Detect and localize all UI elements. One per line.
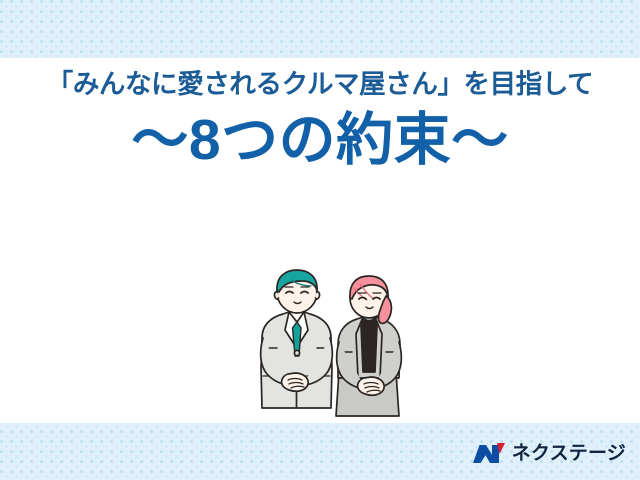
headline-block: 「みんなに愛されるクルマ屋さん」を目指して ～8つの約束～ [0, 0, 640, 170]
headline-primary-text: 「みんなに愛されるクルマ屋さん」を目指して [0, 0, 640, 99]
nextage-wordmark: ネクステージ [512, 444, 626, 463]
nextage-logo: ネクステージ [473, 440, 626, 466]
male-staff-figure [261, 270, 333, 408]
nextage-n-mark-icon [473, 442, 505, 465]
headline-secondary-text: ～8つの約束～ [0, 99, 640, 170]
two-bowing-staff-illustration [236, 268, 414, 426]
female-staff-figure [336, 276, 401, 416]
promotional-banner: 「みんなに愛されるクルマ屋さん」を目指して ～8つの約束～ [0, 0, 640, 480]
